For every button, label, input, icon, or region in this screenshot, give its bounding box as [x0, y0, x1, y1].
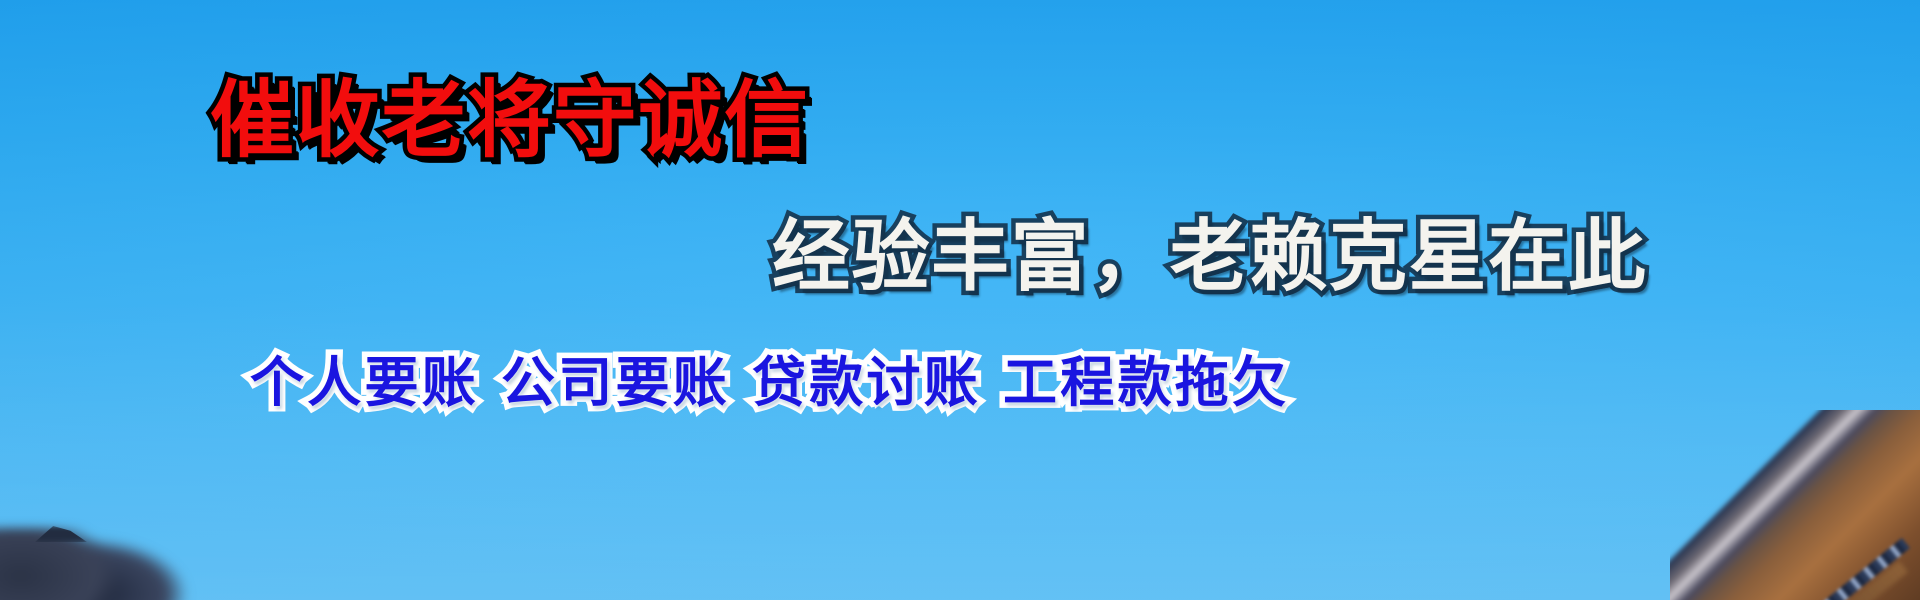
roof-left-finial — [35, 526, 87, 542]
promo-banner: 催收老将守诚信 经验丰富，老赖克星在此 个人要账 公司要账 贷款讨账 工程款拖欠 — [0, 0, 1920, 600]
roof-eave-left-icon — [0, 470, 200, 600]
roof-eave-right-icon — [1670, 410, 1920, 600]
roof-right-ridge — [1705, 561, 1908, 600]
services-list: 个人要账 公司要账 贷款讨账 工程款拖欠 — [250, 356, 1289, 410]
roof-right-tiles — [1700, 538, 1910, 600]
headline-secondary: 经验丰富，老赖克星在此 — [772, 218, 1647, 296]
roof-left-mass — [0, 528, 200, 600]
sky-haze-gradient — [0, 300, 1920, 600]
roof-right-mass — [1670, 410, 1920, 600]
headline-primary: 催收老将守诚信 — [210, 78, 810, 162]
